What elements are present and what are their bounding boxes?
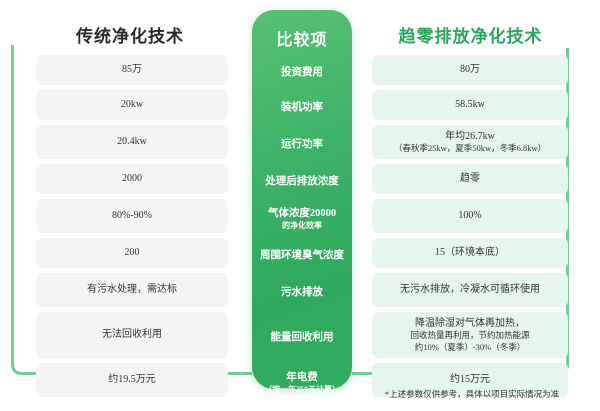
traditional-values-column: 85万20kw20.4kw200080%-90%200有污水处理，需达标无法回收… bbox=[36, 55, 228, 397]
traditional-cell: 2000 bbox=[36, 164, 228, 194]
traditional-cell: 80%-90% bbox=[36, 199, 228, 233]
metric-label: 周围环境臭气浓度 bbox=[260, 249, 344, 263]
zero-emission-cell: 年均26.7kw（春秋季25kw，夏季50kw，冬季6.8kw） bbox=[372, 125, 568, 159]
zero-emission-value: 15（环境本底） bbox=[435, 247, 505, 258]
traditional-cell: 无法回收利用 bbox=[36, 312, 228, 358]
traditional-cell: 约19.5万元 bbox=[36, 363, 228, 397]
zero-emission-cell: 无污水排放，冷凝水可循环使用 bbox=[372, 273, 568, 307]
metric-cell: 气体浓度20000的净化效率 bbox=[252, 202, 352, 236]
metric-label: 污水排放 bbox=[281, 286, 323, 300]
metric-label: 处理后排放浓度 bbox=[265, 175, 339, 189]
metric-cell: 运行功率 bbox=[252, 128, 352, 162]
zero-emission-value: 100% bbox=[458, 210, 481, 221]
metric-sublabel: 的净化效率 bbox=[282, 221, 322, 231]
metric-cell: 污水排放 bbox=[252, 276, 352, 310]
zero-emission-cell: 80万 bbox=[372, 55, 568, 85]
metric-label: 投资费用 bbox=[281, 66, 323, 80]
zero-emission-cell: 15（环境本底） bbox=[372, 238, 568, 268]
zero-emission-value: 降温除湿对气体再加热， bbox=[415, 318, 525, 329]
zero-emission-value: 无污水排放，冷凝水可循环使用 bbox=[400, 284, 540, 295]
zero-emission-cell: 100% bbox=[372, 199, 568, 233]
metric-cell: 周围环境臭气浓度 bbox=[252, 241, 352, 271]
metric-sublabel: （按一年250天计算） bbox=[264, 385, 340, 395]
metric-cell: 能量回收利用 bbox=[252, 315, 352, 361]
metric-label: 装机功率 bbox=[281, 101, 323, 115]
metric-cell: 装机功率 bbox=[252, 93, 352, 123]
traditional-cell: 85万 bbox=[36, 55, 228, 85]
zero-emission-values-column: 80万58.5kw年均26.7kw（春秋季25kw，夏季50kw，冬季6.8kw… bbox=[372, 55, 568, 397]
traditional-cell: 200 bbox=[36, 238, 228, 268]
center-column-header: 比较项 bbox=[276, 26, 327, 50]
zero-emission-subvalue: （春秋季25kw，夏季50kw，冬季6.8kw） bbox=[394, 143, 546, 154]
traditional-cell: 20kw bbox=[36, 90, 228, 120]
metric-cell: 处理后排放浓度 bbox=[252, 167, 352, 197]
zero-emission-value: 58.5kw bbox=[455, 99, 485, 110]
zero-emission-value: 年均26.7kw bbox=[445, 131, 495, 142]
metric-cell: 年电费（按一年250天计算） bbox=[252, 366, 352, 400]
left-column-header: 传统净化技术 bbox=[30, 22, 230, 47]
zero-emission-value: 趋零 bbox=[460, 173, 480, 184]
footnote-text: *上述参数仅供参考，具体以项目实际情况为准 bbox=[372, 388, 572, 400]
zero-emission-cell: 趋零 bbox=[372, 164, 568, 194]
comparison-infographic: 传统净化技术 趋零排放净化技术 85万20kw20.4kw200080%-90%… bbox=[0, 0, 600, 411]
zero-emission-cell: 降温除湿对气体再加热，回收热量再利用，节约加热能源约10%（夏季）-30%（冬季… bbox=[372, 312, 568, 358]
zero-emission-cell: 58.5kw bbox=[372, 90, 568, 120]
zero-emission-subvalue: 回收热量再利用，节约加热能源 bbox=[410, 330, 529, 341]
metric-label: 气体浓度20000 bbox=[268, 207, 336, 221]
traditional-cell: 20.4kw bbox=[36, 125, 228, 159]
metric-cell: 投资费用 bbox=[252, 58, 352, 88]
metric-label: 年电费 bbox=[286, 371, 318, 385]
zero-emission-value: 80万 bbox=[460, 64, 480, 75]
traditional-cell: 有污水处理，需达标 bbox=[36, 273, 228, 307]
zero-emission-value: 约15万元 bbox=[450, 374, 490, 385]
right-column-header: 趋零排放净化技术 bbox=[372, 22, 569, 47]
metric-label: 运行功率 bbox=[281, 138, 323, 152]
metric-column: 比较项 投资费用装机功率运行功率处理后排放浓度气体浓度20000的净化效率周围环… bbox=[252, 10, 352, 389]
metric-list: 投资费用装机功率运行功率处理后排放浓度气体浓度20000的净化效率周围环境臭气浓… bbox=[252, 58, 352, 400]
zero-emission-subvalue: 约10%（夏季）-30%（冬季） bbox=[410, 342, 529, 353]
metric-label: 能量回收利用 bbox=[271, 331, 334, 345]
